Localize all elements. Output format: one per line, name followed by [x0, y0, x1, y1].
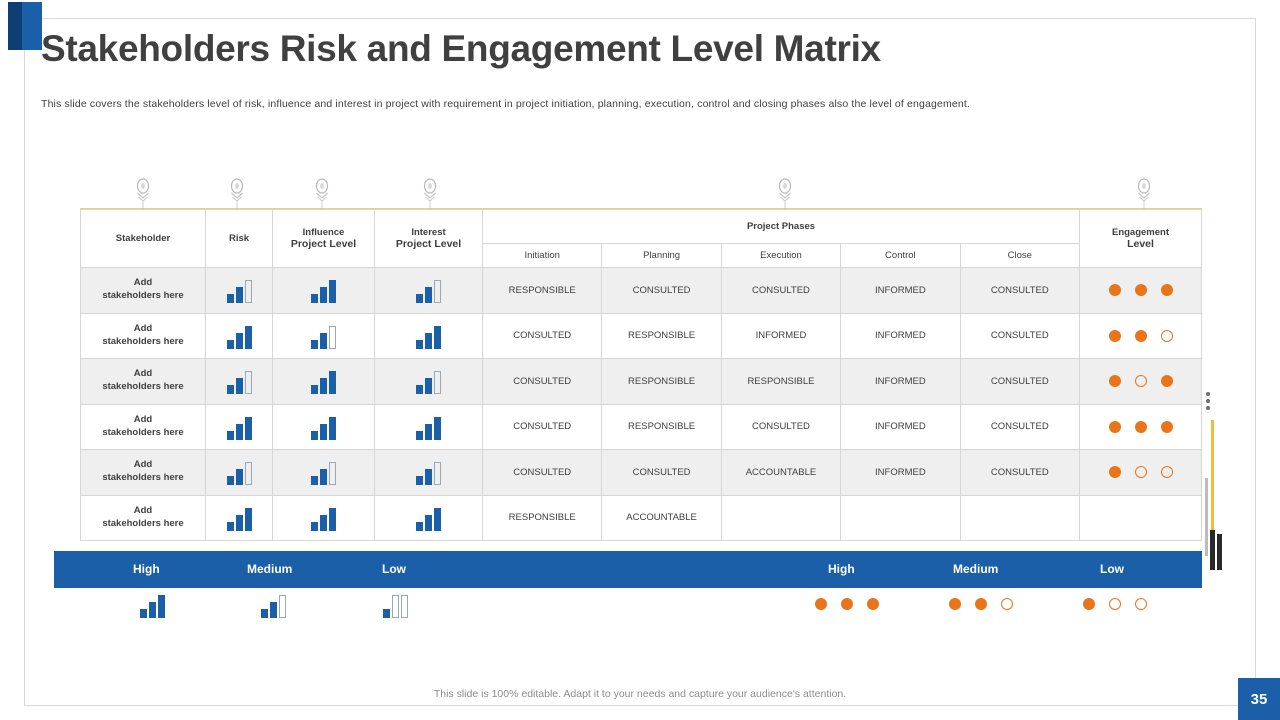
bar-segment	[434, 326, 441, 349]
legend-bar-label: High	[133, 562, 160, 576]
bar-chart-icon	[375, 414, 482, 440]
footer-note: This slide is 100% editable. Adapt it to…	[0, 688, 1280, 700]
cell-engagement	[1080, 313, 1202, 359]
cell-risk	[206, 450, 273, 496]
bar-segment	[270, 602, 277, 618]
bar-segment	[279, 595, 286, 618]
stakeholder-line2: stakeholders here	[102, 381, 183, 392]
bar-chart-icon	[375, 459, 482, 485]
cell-phase-initiation: CONSULTED	[483, 404, 602, 450]
legend-dot-label: Low	[1100, 562, 1124, 576]
cell-stakeholder[interactable]: Addstakeholders here	[81, 359, 206, 405]
bar-segment	[236, 287, 243, 303]
cell-phase-close: CONSULTED	[960, 450, 1079, 496]
cell-influence	[273, 313, 375, 359]
bar-chart-icon	[206, 414, 272, 440]
bar-segment	[425, 469, 432, 485]
header-phase-control: Control	[841, 244, 960, 268]
dot-filled-icon	[841, 598, 853, 610]
stakeholder-line1: Add	[134, 277, 152, 288]
header-phase-initiation: Initiation	[483, 244, 602, 268]
bar-segment	[245, 508, 252, 531]
bar-segment	[392, 595, 399, 618]
bar-segment	[311, 431, 318, 440]
table-row: Addstakeholders hereCONSULTEDRESPONSIBLE…	[81, 313, 1202, 359]
cell-interest	[375, 495, 483, 541]
side-decoration-dots	[1206, 392, 1210, 413]
cell-interest	[375, 313, 483, 359]
cell-engagement	[1080, 495, 1202, 541]
dot-filled-icon	[1135, 330, 1147, 342]
bar-segment	[236, 515, 243, 531]
engagement-dots	[815, 598, 879, 610]
stakeholder-line2: stakeholders here	[102, 290, 183, 301]
cell-influence	[273, 404, 375, 450]
page-number-badge: 35	[1238, 678, 1280, 720]
stakeholder-line2: stakeholders here	[102, 336, 183, 347]
cell-phase-control: INFORMED	[841, 313, 960, 359]
dot-filled-icon	[1109, 284, 1121, 296]
cell-stakeholder[interactable]: Addstakeholders here	[81, 313, 206, 359]
dot-filled-icon	[1161, 284, 1173, 296]
legend-dot-key	[1083, 598, 1147, 610]
dot-filled-icon	[975, 598, 987, 610]
bar-segment	[227, 431, 234, 440]
bar-chart-icon	[140, 592, 165, 618]
dot-filled-icon	[1135, 284, 1147, 296]
cell-risk	[206, 495, 273, 541]
bar-segment	[425, 287, 432, 303]
engagement-dots	[1080, 330, 1201, 342]
legend-dot-key	[949, 598, 1013, 610]
bar-segment	[383, 609, 390, 618]
stakeholder-line2: stakeholders here	[102, 518, 183, 529]
table-row: Addstakeholders hereCONSULTEDRESPONSIBLE…	[81, 359, 1202, 405]
bar-segment	[311, 522, 318, 531]
legend-dot-label: Medium	[953, 562, 998, 576]
engagement-dots	[1080, 421, 1201, 433]
cell-influence	[273, 268, 375, 314]
bar-segment	[425, 515, 432, 531]
header-engagement-line2: Level	[1080, 238, 1201, 250]
bar-segment	[329, 280, 336, 303]
stakeholder-matrix-table: Stakeholder Risk Influence Project Level…	[80, 209, 1202, 541]
cell-phase-close	[960, 495, 1079, 541]
cell-phase-control: INFORMED	[841, 450, 960, 496]
cell-phase-execution	[721, 495, 840, 541]
cell-phase-planning: RESPONSIBLE	[602, 404, 721, 450]
bar-segment	[227, 522, 234, 531]
stakeholder-line1: Add	[134, 368, 152, 379]
dot-outline-icon	[1135, 466, 1147, 478]
map-pin-icon	[314, 178, 330, 208]
stakeholder-line2: stakeholders here	[102, 427, 183, 438]
dot-outline-icon	[1135, 598, 1147, 610]
bar-segment	[329, 508, 336, 531]
cell-interest	[375, 268, 483, 314]
bar-segment	[434, 280, 441, 303]
map-pin-icon	[422, 178, 438, 208]
header-risk: Risk	[206, 210, 273, 268]
cell-interest	[375, 404, 483, 450]
bar-segment	[320, 333, 327, 349]
bar-segment	[245, 326, 252, 349]
cell-risk	[206, 313, 273, 359]
bar-segment	[401, 595, 408, 618]
dot-filled-icon	[1109, 330, 1121, 342]
cell-risk	[206, 268, 273, 314]
table-row: Addstakeholders hereCONSULTEDRESPONSIBLE…	[81, 404, 1202, 450]
bar-chart-icon	[206, 368, 272, 394]
legend-dot-label: High	[828, 562, 855, 576]
header-engagement-line1: Engagement	[1112, 227, 1169, 238]
page-title: Stakeholders Risk and Engagement Level M…	[41, 28, 881, 70]
legend-bar-label: Medium	[247, 562, 292, 576]
cell-engagement	[1080, 450, 1202, 496]
bar-segment	[434, 371, 441, 394]
bar-chart-icon	[375, 505, 482, 531]
header-influence: Influence Project Level	[273, 210, 375, 268]
stakeholder-line1: Add	[134, 459, 152, 470]
cell-phase-execution: CONSULTED	[721, 268, 840, 314]
bar-segment	[245, 371, 252, 394]
bar-segment	[236, 378, 243, 394]
bar-segment	[320, 287, 327, 303]
cell-phase-execution: CONSULTED	[721, 404, 840, 450]
header-influence-line1: Influence	[303, 227, 345, 238]
cell-influence	[273, 450, 375, 496]
bar-chart-icon	[273, 368, 374, 394]
bar-chart-icon	[375, 368, 482, 394]
header-interest-line1: Interest	[411, 227, 445, 238]
cell-risk	[206, 359, 273, 405]
bar-segment	[416, 294, 423, 303]
side-decoration-dark-2	[1217, 534, 1222, 570]
bar-segment	[158, 595, 165, 618]
header-engagement-level: Engagement Level	[1080, 210, 1202, 268]
engagement-dots	[1080, 466, 1201, 478]
cell-phase-close: CONSULTED	[960, 268, 1079, 314]
cell-influence	[273, 495, 375, 541]
table-row: Addstakeholders hereRESPONSIBLECONSULTED…	[81, 268, 1202, 314]
cell-engagement	[1080, 268, 1202, 314]
dot-filled-icon	[815, 598, 827, 610]
bar-segment	[245, 280, 252, 303]
map-pin-icon	[135, 178, 151, 208]
header-phase-close: Close	[960, 244, 1079, 268]
cell-phase-planning: CONSULTED	[602, 268, 721, 314]
bar-chart-icon	[383, 592, 408, 618]
map-pin-icon	[777, 178, 793, 208]
bar-chart-icon	[206, 459, 272, 485]
dot-outline-icon	[1161, 330, 1173, 342]
map-pin-icon	[1136, 178, 1152, 208]
bar-segment	[311, 385, 318, 394]
dot-filled-icon	[867, 598, 879, 610]
dot-filled-icon	[1161, 421, 1173, 433]
bar-segment	[329, 417, 336, 440]
bar-segment	[227, 476, 234, 485]
cell-phase-execution: ACCOUNTABLE	[721, 450, 840, 496]
bar-segment	[140, 609, 147, 618]
table-row: Addstakeholders hereCONSULTEDCONSULTEDAC…	[81, 450, 1202, 496]
bar-chart-icon	[206, 323, 272, 349]
bar-segment	[329, 462, 336, 485]
legend-bar-key	[261, 592, 286, 618]
bar-chart-icon	[375, 277, 482, 303]
cell-interest	[375, 359, 483, 405]
cell-engagement	[1080, 359, 1202, 405]
cell-phase-control: INFORMED	[841, 268, 960, 314]
bar-chart-icon	[206, 277, 272, 303]
side-decoration-gold	[1211, 420, 1214, 530]
bar-segment	[329, 326, 336, 349]
cell-stakeholder[interactable]: Addstakeholders here	[81, 404, 206, 450]
cell-interest	[375, 450, 483, 496]
bar-segment	[245, 462, 252, 485]
dot-filled-icon	[1083, 598, 1095, 610]
dot-filled-icon	[1109, 375, 1121, 387]
stakeholder-line1: Add	[134, 505, 152, 516]
bar-segment	[320, 378, 327, 394]
bar-segment	[329, 371, 336, 394]
cell-phase-initiation: CONSULTED	[483, 313, 602, 359]
header-interest: Interest Project Level	[375, 210, 483, 268]
bar-segment	[320, 469, 327, 485]
cell-phase-initiation: RESPONSIBLE	[483, 268, 602, 314]
cell-phase-initiation: CONSULTED	[483, 359, 602, 405]
bar-segment	[425, 333, 432, 349]
cell-phase-execution: RESPONSIBLE	[721, 359, 840, 405]
cell-engagement	[1080, 404, 1202, 450]
bar-chart-icon	[206, 505, 272, 531]
cell-phase-control	[841, 495, 960, 541]
bar-segment	[245, 417, 252, 440]
cell-phase-planning: RESPONSIBLE	[602, 359, 721, 405]
cell-phase-close: CONSULTED	[960, 313, 1079, 359]
dot-filled-icon	[949, 598, 961, 610]
bar-chart-icon	[261, 592, 286, 618]
bar-chart-icon	[273, 459, 374, 485]
engagement-dots	[1083, 598, 1147, 610]
dot-filled-icon	[1109, 466, 1121, 478]
bar-segment	[416, 476, 423, 485]
legend-bar-key	[383, 592, 408, 618]
bar-chart-icon	[375, 323, 482, 349]
dot-outline-icon	[1001, 598, 1013, 610]
header-interest-line2: Project Level	[375, 238, 482, 250]
cell-phase-planning: CONSULTED	[602, 450, 721, 496]
bar-segment	[311, 294, 318, 303]
cell-influence	[273, 359, 375, 405]
cell-phase-initiation: RESPONSIBLE	[483, 495, 602, 541]
header-phase-execution: Execution	[721, 244, 840, 268]
dot-filled-icon	[1135, 421, 1147, 433]
bar-segment	[236, 469, 243, 485]
dot-filled-icon	[1161, 375, 1173, 387]
header-stakeholder: Stakeholder	[81, 210, 206, 268]
pin-marker-row	[80, 178, 1202, 210]
cell-phase-control: INFORMED	[841, 359, 960, 405]
engagement-dots	[1080, 284, 1201, 296]
cell-stakeholder[interactable]: Addstakeholders here	[81, 495, 206, 541]
bar-segment	[416, 522, 423, 531]
side-decoration-dark-1	[1210, 530, 1215, 570]
engagement-dots	[1080, 375, 1201, 387]
bar-segment	[425, 378, 432, 394]
engagement-dots	[949, 598, 1013, 610]
cell-phase-close: CONSULTED	[960, 404, 1079, 450]
cell-stakeholder[interactable]: Addstakeholders here	[81, 450, 206, 496]
legend-band	[54, 551, 1202, 588]
map-pin-icon	[229, 178, 245, 208]
cell-phase-initiation: CONSULTED	[483, 450, 602, 496]
cell-risk	[206, 404, 273, 450]
stakeholder-line1: Add	[134, 414, 152, 425]
bar-segment	[149, 602, 156, 618]
bar-segment	[320, 515, 327, 531]
legend-bar-key	[140, 592, 165, 618]
corner-accent-block-dark	[8, 2, 22, 50]
bar-segment	[261, 609, 268, 618]
bar-segment	[320, 424, 327, 440]
bar-chart-icon	[273, 505, 374, 531]
bar-segment	[311, 340, 318, 349]
bar-segment	[416, 340, 423, 349]
bar-segment	[227, 294, 234, 303]
bar-chart-icon	[273, 323, 374, 349]
bar-segment	[434, 508, 441, 531]
header-phase-planning: Planning	[602, 244, 721, 268]
dot-outline-icon	[1161, 466, 1173, 478]
bar-segment	[434, 462, 441, 485]
cell-phase-planning: ACCOUNTABLE	[602, 495, 721, 541]
table-row: Addstakeholders hereRESPONSIBLEACCOUNTAB…	[81, 495, 1202, 541]
page-subtitle: This slide covers the stakeholders level…	[41, 98, 1141, 110]
cell-phase-planning: RESPONSIBLE	[602, 313, 721, 359]
bar-segment	[434, 417, 441, 440]
bar-chart-icon	[273, 277, 374, 303]
cell-phase-control: INFORMED	[841, 404, 960, 450]
bar-segment	[416, 385, 423, 394]
bar-segment	[311, 476, 318, 485]
cell-phase-close: CONSULTED	[960, 359, 1079, 405]
bar-segment	[236, 333, 243, 349]
dot-outline-icon	[1109, 598, 1121, 610]
stakeholder-line1: Add	[134, 323, 152, 334]
cell-phase-execution: INFORMED	[721, 313, 840, 359]
cell-stakeholder[interactable]: Addstakeholders here	[81, 268, 206, 314]
legend-dot-key	[815, 598, 879, 610]
bar-segment	[236, 424, 243, 440]
bar-segment	[425, 424, 432, 440]
dot-filled-icon	[1109, 421, 1121, 433]
side-decoration-grey	[1205, 478, 1208, 556]
bar-segment	[416, 431, 423, 440]
legend-bar-label: Low	[382, 562, 406, 576]
bar-segment	[227, 340, 234, 349]
header-project-phases: Project Phases	[483, 210, 1080, 244]
dot-outline-icon	[1135, 375, 1147, 387]
header-influence-line2: Project Level	[273, 238, 374, 250]
stakeholder-line2: stakeholders here	[102, 472, 183, 483]
bar-segment	[227, 385, 234, 394]
bar-chart-icon	[273, 414, 374, 440]
